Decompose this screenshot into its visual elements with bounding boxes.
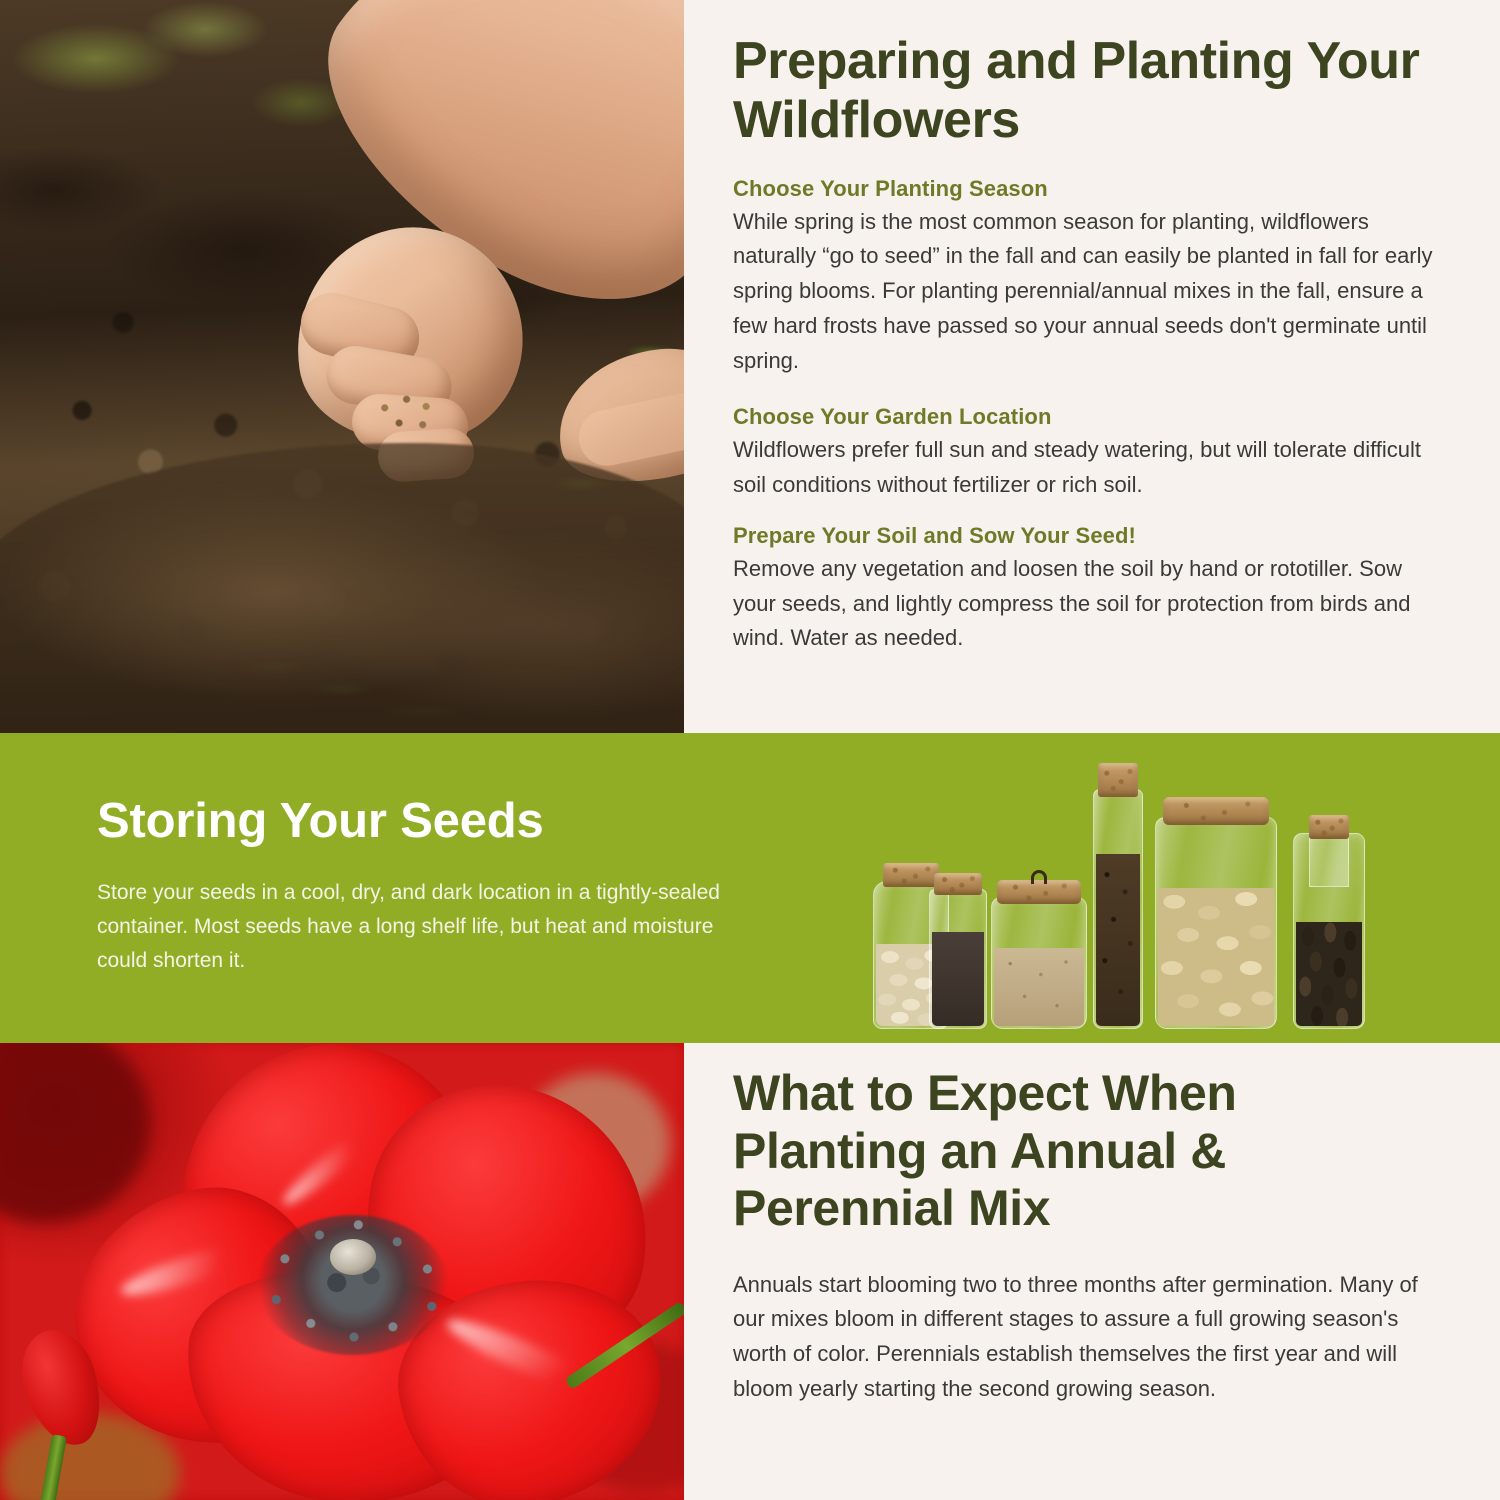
jar-contents [994,948,1084,1026]
jar-contents [1158,888,1274,1026]
storing-seeds-paragraph: Store your seeds in a cool, dry, and dar… [97,876,737,978]
page-title: Preparing and Planting Your Wildflowers [733,32,1433,150]
storing-seeds-heading: Storing Your Seeds [97,793,544,849]
jar-dark-seeds [929,889,987,1029]
subheading-garden-location: Choose Your Garden Location [733,404,1433,430]
section-what-to-expect: What to Expect When Planting an Annual &… [0,1043,1500,1500]
cork-lid-icon [1098,763,1138,797]
soil-mound-foreground [0,443,684,733]
poppy-pistil [330,1239,376,1275]
jar-contents [932,932,984,1026]
section-storing-your-seeds: Storing Your Seeds Store your seeds in a… [0,733,1500,1043]
seed-jars-photo [855,733,1455,1043]
poppy-stamens [246,1201,462,1371]
cork-lid-icon [1309,815,1349,839]
cork-lid-icon [883,863,939,887]
jar-sunflower-seeds [1293,833,1365,1029]
what-to-expect-heading: What to Expect When Planting an Annual &… [733,1065,1433,1238]
jar-handle-loop-icon [1031,870,1047,884]
jar-contents [1296,922,1362,1026]
what-to-expect-paragraph: Annuals start blooming two to three mont… [733,1268,1433,1407]
bottom-text-column: What to Expect When Planting an Annual &… [733,1043,1433,1500]
subheading-prepare-soil: Prepare Your Soil and Sow Your Seed! [733,523,1433,549]
paragraph-garden-location: Wildflowers prefer full sun and steady w… [733,433,1433,503]
infographic-page: Preparing and Planting Your Wildflowers … [0,0,1500,1500]
red-poppy-photo [0,1043,684,1500]
subheading-planting-season: Choose Your Planting Season [733,176,1433,202]
cork-lid-icon [934,873,982,895]
cork-lid-icon [1163,797,1269,825]
section-preparing-and-planting: Preparing and Planting Your Wildflowers … [0,0,1500,733]
top-text-column: Preparing and Planting Your Wildflowers … [733,0,1433,733]
jar-tall-brown-seeds [1093,789,1143,1029]
jar-contents [1096,854,1140,1026]
paragraph-planting-season: While spring is the most common season f… [733,205,1433,379]
paragraph-prepare-soil: Remove any vegetation and loosen the soi… [733,552,1433,656]
hand-sowing-seeds-photo [0,0,684,733]
jar-tan-grain [991,897,1087,1029]
jar-pumpkin-seeds [1155,817,1277,1029]
jar-neck [1309,833,1349,887]
